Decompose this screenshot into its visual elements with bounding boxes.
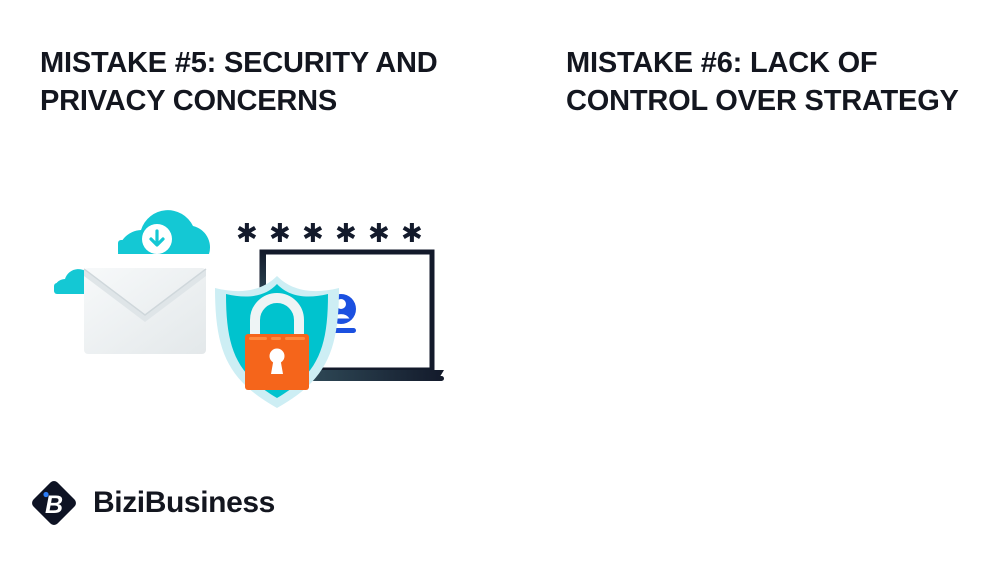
infographic-canvas: MISTAKE #5: SECURITY AND PRIVACY CONCERN…: [0, 0, 1000, 563]
security-privacy-illustration: ✱ ✱ ✱ ✱ ✱ ✱: [40, 190, 460, 450]
logo-diamond-icon: B: [28, 477, 80, 529]
page-title-right: MISTAKE #6: LACK OF CONTROL OVER STRATEG…: [566, 44, 966, 120]
password-asterisks: ✱ ✱ ✱ ✱ ✱ ✱: [236, 218, 425, 248]
brand-logo[interactable]: B BiziBusiness: [28, 477, 275, 529]
envelope-icon: [84, 268, 206, 354]
page-title-left: MISTAKE #5: SECURITY AND PRIVACY CONCERN…: [40, 44, 440, 120]
logo-wordmark: BiziBusiness: [93, 488, 275, 518]
panel-mistake-6: MISTAKE #6: LACK OF CONTROL OVER STRATEG…: [500, 0, 1000, 563]
logo-mark-letter: B: [45, 491, 63, 519]
cloud-download-icon: [118, 210, 210, 254]
